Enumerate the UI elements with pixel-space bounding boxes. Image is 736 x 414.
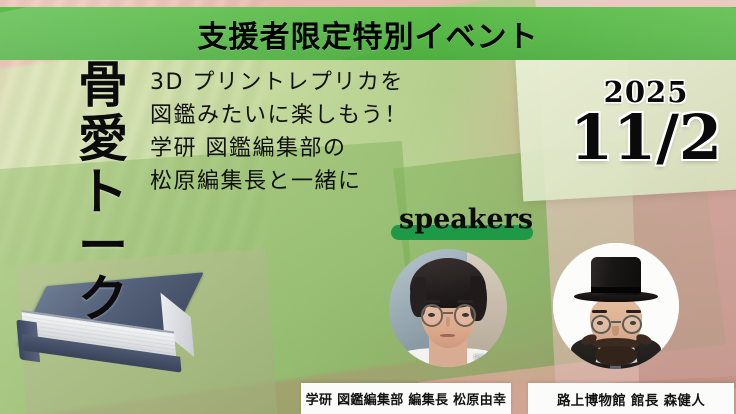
top-hat-band-icon bbox=[591, 287, 641, 293]
vertical-title-char-4: ー bbox=[72, 219, 134, 273]
speaker-1-portrait: 撮影：多田悟 bbox=[389, 249, 507, 367]
vertical-title-char-3: ト bbox=[72, 165, 134, 219]
speaker-2-eyebrow-right bbox=[626, 310, 641, 313]
vertical-title-char-1: 骨 bbox=[72, 58, 134, 112]
glasses-lens-left-icon bbox=[591, 315, 611, 334]
photo-credit: 撮影：多田悟 bbox=[474, 354, 506, 361]
speakers-label-text: speakers bbox=[391, 206, 533, 233]
vertical-title-char-5: ク bbox=[72, 272, 134, 326]
vertical-title-char-2: 愛 bbox=[72, 112, 134, 166]
description-line-1: 3D プリントレプリカを bbox=[150, 66, 408, 99]
speaker-1-eyebrow-left bbox=[424, 300, 439, 303]
speaker-2-name-bar: 路上博物館 館長 森健人 bbox=[528, 383, 734, 414]
speaker-2-portrait bbox=[553, 243, 679, 369]
speaker-1-eyebrow-right bbox=[457, 300, 472, 303]
event-day: 11/2 bbox=[570, 109, 722, 168]
description-line-3: 学研 図鑑編集部の bbox=[150, 132, 408, 165]
speaker-2-eyebrow-left bbox=[592, 310, 607, 313]
glasses-lens-left-icon bbox=[421, 304, 443, 326]
glasses-bridge-icon bbox=[443, 312, 452, 314]
event-title-text: 支援者限定特別イベント bbox=[198, 12, 539, 56]
glasses-lens-right-icon bbox=[454, 304, 476, 326]
speaker-1-name-bar: 学研 図鑑編集部 編集長 松原由幸 bbox=[301, 383, 511, 414]
glasses-bridge-icon bbox=[611, 321, 621, 323]
event-date: 2025 11/2 bbox=[570, 78, 722, 168]
event-banner-graphic: 支援者限定特別イベント 骨 愛 ト ー ク 3D プリントレプリカを 図鑑みたい… bbox=[0, 0, 736, 414]
description-line-4: 松原編集長と一緒に bbox=[150, 165, 408, 198]
speaker-1-mouth bbox=[440, 334, 455, 337]
speaker-2-nose bbox=[612, 326, 618, 336]
description-line-2: 図鑑みたいに楽しもう！ bbox=[150, 99, 408, 132]
glasses-lens-right-icon bbox=[622, 315, 642, 334]
speakers-label: speakers bbox=[391, 206, 533, 233]
event-title-banner: 支援者限定特別イベント bbox=[0, 7, 736, 60]
description-text: 3D プリントレプリカを 図鑑みたいに楽しもう！ 学研 図鑑編集部の 松原編集長… bbox=[150, 66, 408, 198]
vertical-main-title: 骨 愛 ト ー ク bbox=[72, 58, 134, 326]
